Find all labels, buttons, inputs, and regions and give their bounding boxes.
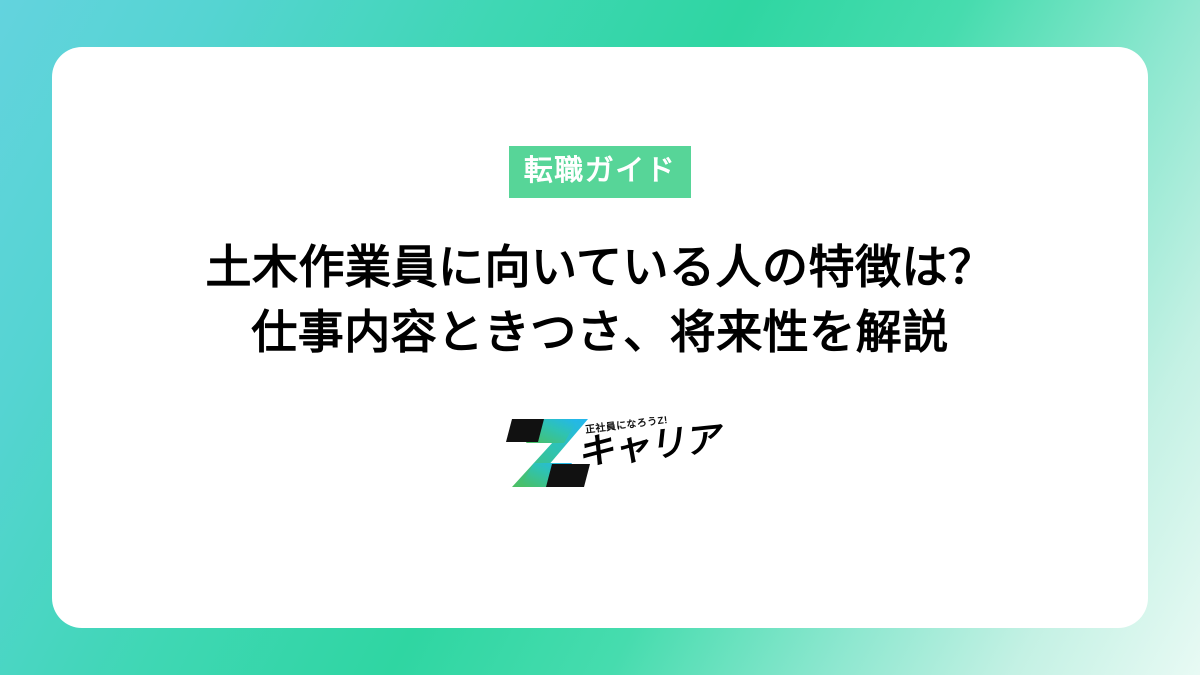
- category-badge: 転職ガイド: [509, 146, 692, 198]
- page-title-line-1: 土木作業員に向いている人の特徴は？: [205, 235, 994, 300]
- card-content: 転職ガイド 土木作業員に向いている人の特徴は？ 仕事内容ときつさ、将来性を解説: [52, 47, 1148, 628]
- content-card: 転職ガイド 土木作業員に向いている人の特徴は？ 仕事内容ときつさ、将来性を解説: [52, 47, 1148, 628]
- page-title: 土木作業員に向いている人の特徴は？ 仕事内容ときつさ、将来性を解説: [205, 235, 994, 366]
- slide-background: 転職ガイド 土木作業員に向いている人の特徴は？ 仕事内容ときつさ、将来性を解説: [0, 0, 1200, 675]
- page-title-line-2: 仕事内容ときつさ、将来性を解説: [205, 300, 994, 365]
- zcareer-logo: 正社員になろうZ! キャリア: [500, 413, 700, 493]
